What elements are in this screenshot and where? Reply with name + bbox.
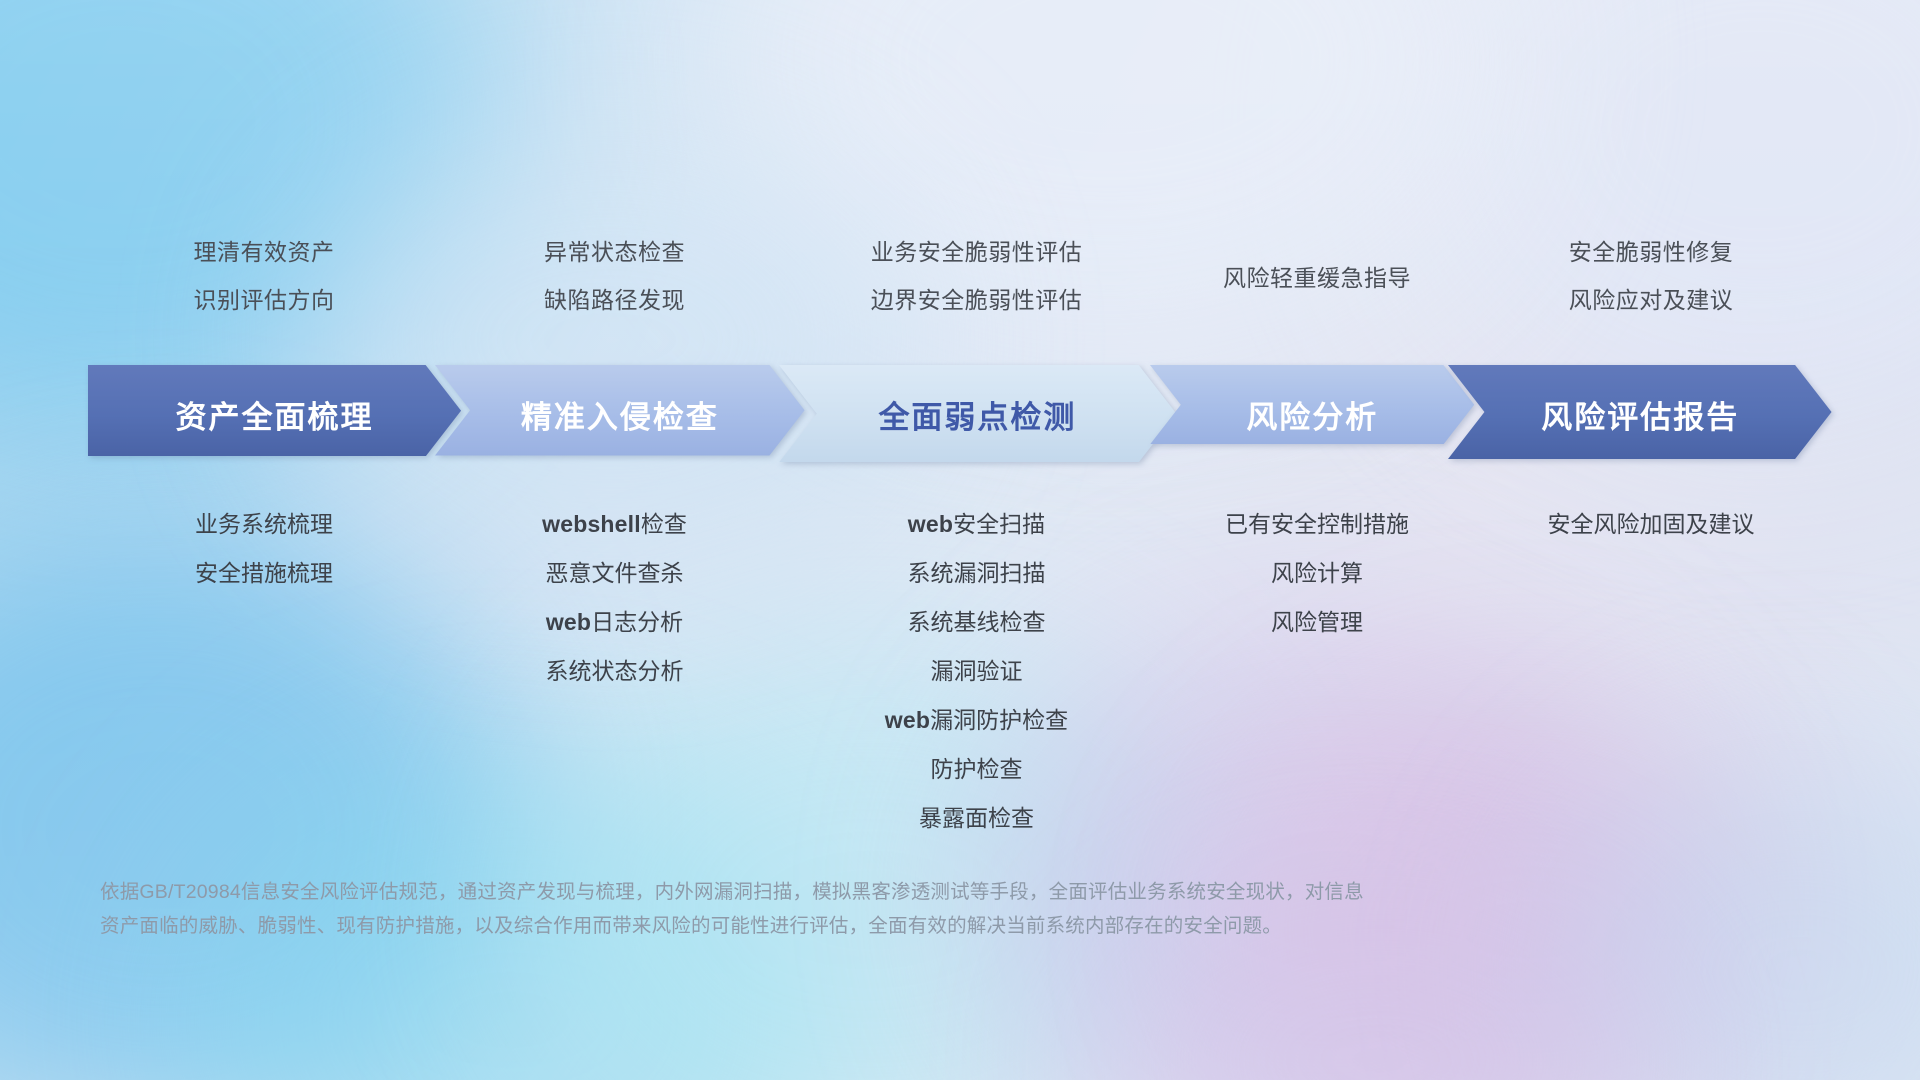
stage-inputs-intrusion-check: 异常状态检查缺陷路径发现 bbox=[440, 228, 789, 328]
chevron-label: 全面弱点检测 bbox=[878, 392, 1076, 437]
activity-text: 防护检查 bbox=[930, 756, 1022, 782]
chevron-stage-risk-report[interactable]: 风险评估报告 bbox=[1448, 365, 1832, 463]
stage-activity-item: 业务系统梳理 bbox=[195, 500, 333, 549]
stage-input-line: 业务安全脆弱性评估 bbox=[871, 228, 1083, 276]
stage-activities-risk-analysis: 已有安全控制措施风险计算风险管理 bbox=[1164, 500, 1470, 647]
chevron-label: 资产全面梳理 bbox=[176, 392, 374, 437]
stage-activity-item: 恶意文件查杀 bbox=[545, 549, 683, 598]
stage-activity-item: 系统基线检查 bbox=[907, 598, 1045, 647]
stage-activities-row: 业务系统梳理安全措施梳理webshell检查恶意文件查杀web日志分析系统状态分… bbox=[88, 500, 1832, 843]
stage-activities-intrusion-check: webshell检查恶意文件查杀web日志分析系统状态分析 bbox=[440, 500, 789, 696]
activity-text: 检查 bbox=[641, 511, 687, 537]
stage-activity-item: 漏洞验证 bbox=[930, 647, 1022, 696]
activity-keyword: web bbox=[546, 609, 591, 635]
stage-activity-item: 系统状态分析 bbox=[545, 647, 683, 696]
stage-input-line: 安全脆弱性修复 bbox=[1569, 228, 1734, 276]
footer-line-1: 依据GB/T20984信息安全风险评估规范，通过资产发现与梳理，内外网漏洞扫描，… bbox=[100, 875, 1660, 909]
activity-text: 系统漏洞扫描 bbox=[907, 560, 1045, 586]
stage-activities-asset-inventory: 业务系统梳理安全措施梳理 bbox=[88, 500, 440, 598]
stage-inputs-risk-analysis: 风险轻重缓急指导 bbox=[1164, 228, 1470, 328]
activity-text: 安全措施梳理 bbox=[195, 560, 333, 586]
stage-activity-item: 安全措施梳理 bbox=[195, 549, 333, 598]
chevron-stage-intrusion-check[interactable]: 精准入侵检查 bbox=[435, 365, 805, 463]
stage-activity-item: 安全风险加固及建议 bbox=[1548, 500, 1755, 549]
chevron-stage-weakness-detection[interactable]: 全面弱点检测 bbox=[779, 365, 1177, 463]
stage-inputs-risk-report: 安全脆弱性修复风险应对及建议 bbox=[1470, 228, 1832, 328]
stage-inputs-weakness-detection: 业务安全脆弱性评估边界安全脆弱性评估 bbox=[789, 228, 1164, 328]
activity-text: 恶意文件查杀 bbox=[545, 560, 683, 586]
slide-canvas: 理清有效资产识别评估方向异常状态检查缺陷路径发现业务安全脆弱性评估边界安全脆弱性… bbox=[0, 0, 1920, 1080]
chevron-stage-risk-analysis[interactable]: 风险分析 bbox=[1150, 365, 1474, 463]
chevron-label: 风险评估报告 bbox=[1541, 392, 1739, 437]
stage-activity-item: web安全扫描 bbox=[908, 500, 1045, 549]
activity-text: 漏洞防护检查 bbox=[930, 707, 1068, 733]
activity-keyword: web bbox=[908, 511, 953, 537]
stage-activities-weakness-detection: web安全扫描系统漏洞扫描系统基线检查漏洞验证web漏洞防护检查防护检查暴露面检… bbox=[789, 500, 1164, 843]
stage-activity-item: webshell检查 bbox=[542, 500, 687, 549]
stage-input-line: 理清有效资产 bbox=[194, 228, 335, 276]
activity-text: 系统基线检查 bbox=[907, 609, 1045, 635]
stage-activity-item: 暴露面检查 bbox=[919, 794, 1034, 843]
activity-text: 风险管理 bbox=[1271, 609, 1363, 635]
stage-activity-item: web日志分析 bbox=[546, 598, 683, 647]
chevron-label: 风险分析 bbox=[1246, 392, 1378, 437]
stage-activity-item: 风险管理 bbox=[1271, 598, 1363, 647]
stage-activity-item: web漏洞防护检查 bbox=[885, 696, 1068, 745]
stage-activity-item: 风险计算 bbox=[1271, 549, 1363, 598]
stage-activity-item: 已有安全控制措施 bbox=[1225, 500, 1409, 549]
activity-keyword: webshell bbox=[542, 511, 641, 537]
activity-text: 安全风险加固及建议 bbox=[1548, 511, 1755, 537]
stage-input-line: 风险轻重缓急指导 bbox=[1223, 254, 1411, 302]
activity-keyword: web bbox=[885, 707, 930, 733]
process-chevron-banner: 资产全面梳理精准入侵检查全面弱点检测风险分析风险评估报告 bbox=[88, 365, 1832, 463]
stage-input-line: 缺陷路径发现 bbox=[544, 276, 685, 324]
footer-line-2: 资产面临的威胁、脆弱性、现有防护措施，以及综合作用而带来风险的可能性进行评估，全… bbox=[100, 909, 1660, 943]
stage-input-line: 风险应对及建议 bbox=[1569, 276, 1734, 324]
activity-text: 日志分析 bbox=[591, 609, 683, 635]
activity-text: 暴露面检查 bbox=[919, 805, 1034, 831]
activity-text: 业务系统梳理 bbox=[195, 511, 333, 537]
chevron-stage-asset-inventory[interactable]: 资产全面梳理 bbox=[88, 365, 461, 463]
stage-input-line: 边界安全脆弱性评估 bbox=[871, 276, 1083, 324]
chevron-label: 精准入侵检查 bbox=[521, 392, 719, 437]
stage-inputs-row: 理清有效资产识别评估方向异常状态检查缺陷路径发现业务安全脆弱性评估边界安全脆弱性… bbox=[88, 228, 1832, 328]
footer-description: 依据GB/T20984信息安全风险评估规范，通过资产发现与梳理，内外网漏洞扫描，… bbox=[100, 875, 1660, 943]
activity-text: 系统状态分析 bbox=[545, 658, 683, 684]
stage-activity-item: 防护检查 bbox=[930, 745, 1022, 794]
activity-text: 已有安全控制措施 bbox=[1225, 511, 1409, 537]
activity-text: 安全扫描 bbox=[953, 511, 1045, 537]
stage-input-line: 识别评估方向 bbox=[194, 276, 335, 324]
activity-text: 风险计算 bbox=[1271, 560, 1363, 586]
stage-activity-item: 系统漏洞扫描 bbox=[907, 549, 1045, 598]
activity-text: 漏洞验证 bbox=[930, 658, 1022, 684]
stage-activities-risk-report: 安全风险加固及建议 bbox=[1470, 500, 1832, 549]
stage-input-line: 异常状态检查 bbox=[544, 228, 685, 276]
stage-inputs-asset-inventory: 理清有效资产识别评估方向 bbox=[88, 228, 440, 328]
